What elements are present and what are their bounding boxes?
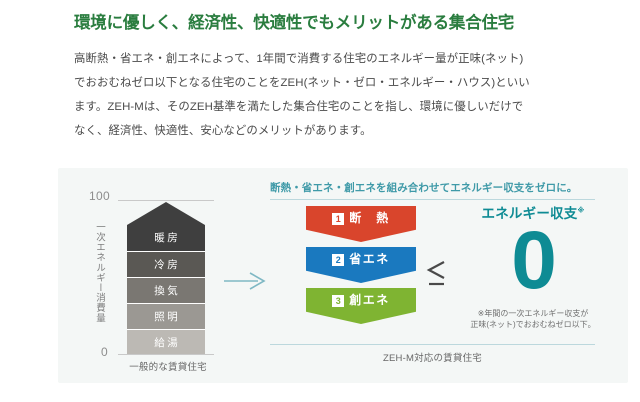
bar-segment-cooling: 冷房	[127, 251, 205, 277]
step-chevron-energy-creation: 3 創エネ	[306, 288, 416, 324]
right-arrow-icon	[224, 271, 266, 291]
footnote-mark: ※	[577, 208, 584, 215]
energy-balance-note-line: 正味(ネット)でおおむねゼロ以下。	[453, 319, 613, 330]
step-chevron-energy-saving: 2 省エネ	[306, 247, 416, 283]
axis-gridline-top	[118, 200, 214, 201]
energy-balance-value: 0	[453, 220, 613, 302]
zeh-solution-group: 断熱・省エネ・創エネを組み合わせてエネルギー収支をゼロに。 1 断 熱 2 省エ…	[270, 178, 615, 376]
bar-segment-hotwater: 給湯	[127, 329, 205, 354]
article-section: 環境に優しく、経済性、快適性でもメリットがある集合住宅 高断熱・省エネ・創エネに…	[74, 13, 584, 143]
article-body: 高断熱・省エネ・創エネによって、1年間で消費する住宅のエネルギー量が正味(ネット…	[74, 47, 584, 143]
step-number-badge: 3	[332, 295, 344, 307]
step-number-badge: 1	[332, 213, 344, 225]
energy-balance-note-line: ※年間の一次エネルギー収支が	[453, 308, 613, 319]
chart-right-caption: ZEH-M対応の賃貸住宅	[270, 350, 595, 364]
step-chevron-insulation: 1 断 熱	[306, 206, 416, 242]
stacked-house-bar: 暖房 冷房 換気 照明 給湯	[127, 202, 205, 354]
energy-consumption-chart: 100 0 一次エネルギー消費量 暖房 冷房 換気 照明 給湯 一般的な賃貸住宅	[74, 178, 224, 376]
step-label: 省エネ	[349, 253, 390, 266]
banner-divider-bottom	[270, 344, 595, 345]
step-chevron-list: 1 断 熱 2 省エネ 3 創エネ	[306, 206, 416, 329]
bar-segment-ventilation: 換気	[127, 277, 205, 303]
y-axis-label: 一次エネルギー消費量	[92, 222, 106, 323]
page-title: 環境に優しく、経済性、快適性でもメリットがある集合住宅	[74, 13, 584, 34]
axis-tick-min: 0	[101, 345, 108, 359]
step-label: 断 熱	[349, 212, 390, 225]
energy-balance-note: ※年間の一次エネルギー収支が 正味(ネット)でおおむねゼロ以下。	[453, 308, 613, 330]
infographic-banner-text: 断熱・省エネ・創エネを組み合わせてエネルギー収支をゼロに。	[270, 180, 577, 195]
banner-divider-top	[270, 199, 595, 200]
article-paragraph-line: ます。ZEH-Mは、そのZEH基準を満たした集合住宅のことを指し、環境に優しいだ…	[74, 95, 584, 119]
bar-segment-heating: 暖房	[127, 225, 205, 251]
bar-segment-lighting: 照明	[127, 303, 205, 329]
infographic-panel: 100 0 一次エネルギー消費量 暖房 冷房 換気 照明 給湯 一般的な賃貸住宅…	[58, 168, 628, 383]
article-paragraph-line: でおおむねゼロ以下となる住宅のことをZEH(ネット・ゼロ・エネルギー・ハウス)と…	[74, 71, 584, 95]
energy-balance-block: エネルギー収支※ 0 ※年間の一次エネルギー収支が 正味(ネット)でおおむねゼロ…	[453, 202, 613, 330]
article-paragraph-line: なく、経済性、快適性、安心などのメリットがあります。	[74, 119, 584, 143]
axis-tick-max: 100	[89, 189, 110, 203]
less-than-or-equal-icon	[425, 260, 449, 290]
step-label: 創エネ	[349, 294, 390, 307]
step-number-badge: 2	[332, 254, 344, 266]
house-roof-shape	[127, 202, 205, 225]
article-paragraph-line: 高断熱・省エネ・創エネによって、1年間で消費する住宅のエネルギー量が正味(ネット…	[74, 47, 584, 71]
chart-left-caption: 一般的な賃貸住宅	[118, 359, 218, 373]
